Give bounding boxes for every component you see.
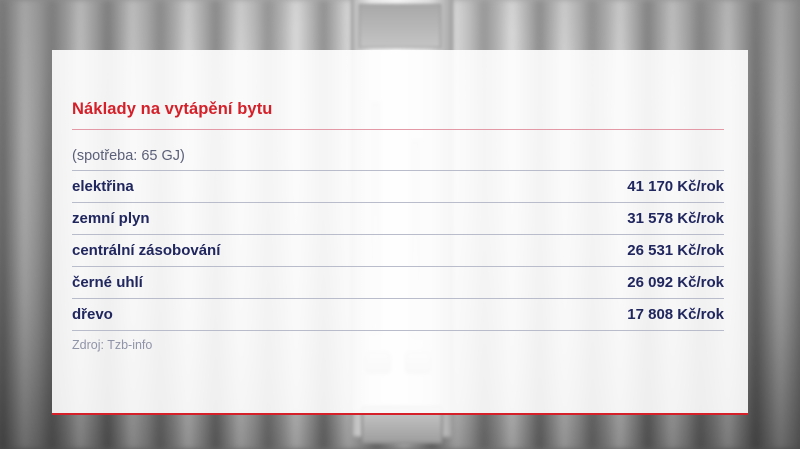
table-cell-value: 41 170 Kč/rok (627, 178, 724, 195)
table-cell-label: dřevo (72, 306, 113, 323)
table-row: zemní plyn 31 578 Kč/rok (72, 202, 724, 234)
page-title: Náklady na vytápění bytu (72, 100, 272, 119)
cost-table: elektřina 41 170 Kč/rok zemní plyn 31 57… (72, 170, 724, 331)
table-cell-label: elektřina (72, 178, 134, 195)
device-display-icon (359, 4, 441, 48)
screenshot-stage: Náklady na vytápění bytu (spotřeba: 65 G… (0, 0, 800, 449)
table-cell-label: centrální zásobování (72, 242, 220, 259)
table-cell-label: zemní plyn (72, 210, 150, 227)
source-attribution: Zdroj: Tzb-info (72, 338, 152, 352)
panel-subtitle: (spotřeba: 65 GJ) (72, 148, 185, 164)
table-cell-value: 26 531 Kč/rok (627, 242, 724, 259)
table-row: elektřina 41 170 Kč/rok (72, 170, 724, 202)
table-row: centrální zásobování 26 531 Kč/rok (72, 234, 724, 266)
table-cell-label: černé uhlí (72, 274, 143, 291)
title-divider (72, 129, 724, 130)
info-graphic-panel: Náklady na vytápění bytu (spotřeba: 65 G… (52, 50, 748, 415)
table-cell-value: 17 808 Kč/rok (627, 306, 724, 323)
table-cell-value: 31 578 Kč/rok (627, 210, 724, 227)
table-row: černé uhlí 26 092 Kč/rok (72, 266, 724, 298)
table-cell-value: 26 092 Kč/rok (627, 274, 724, 291)
table-row: dřevo 17 808 Kč/rok (72, 298, 724, 331)
panel-content: Náklady na vytápění bytu (spotřeba: 65 G… (72, 50, 728, 413)
